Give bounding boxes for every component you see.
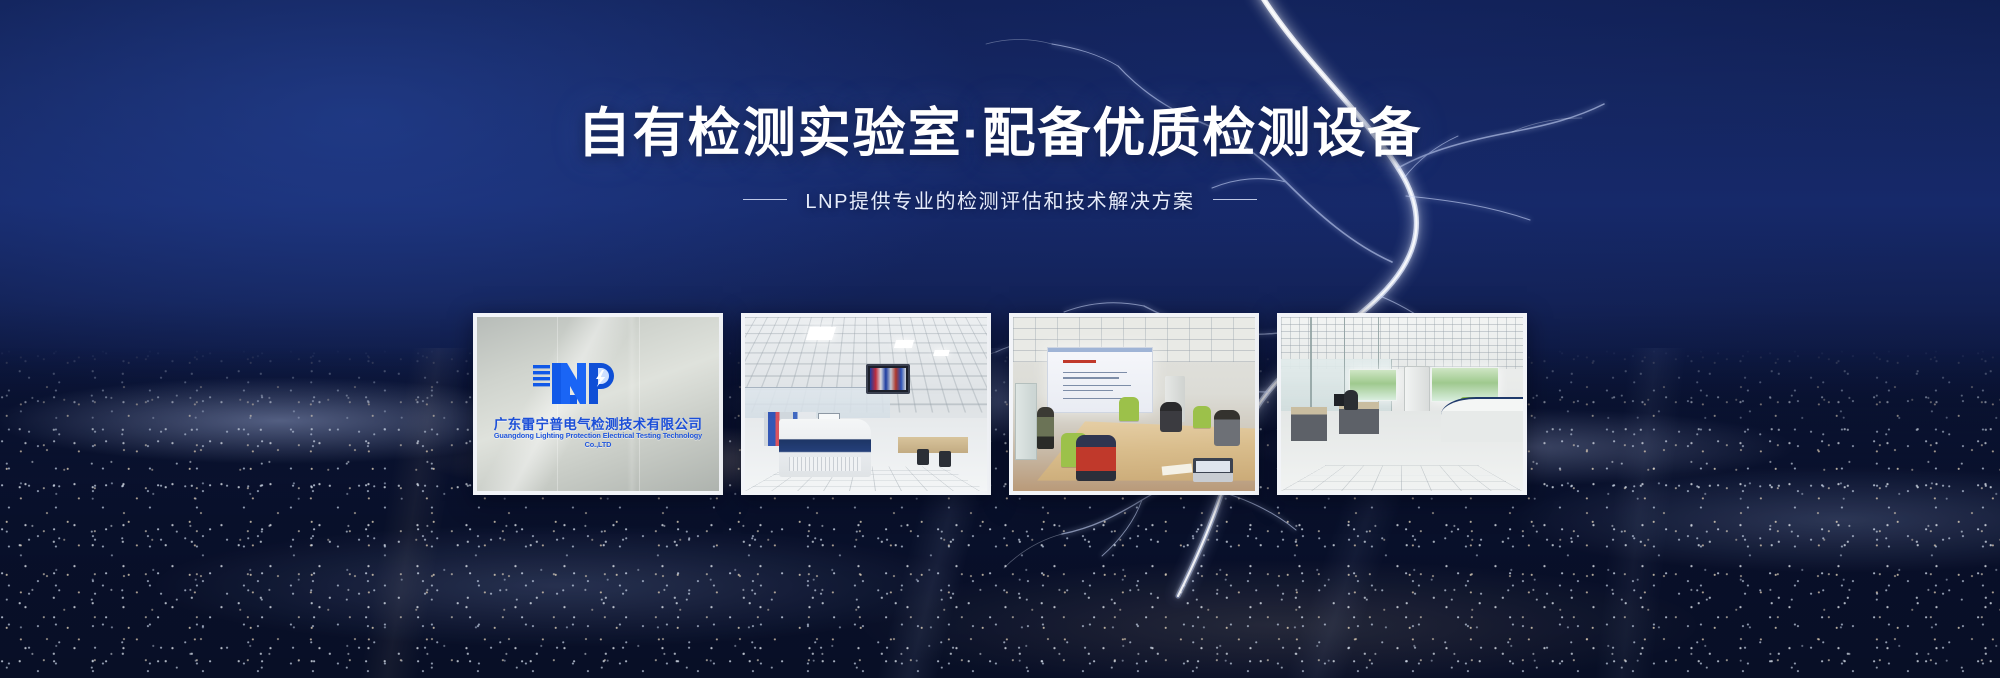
seated-person [1076, 435, 1116, 481]
gallery-strip: 广东雷宁普电气检测技术有限公司 Guangdong Lighting Prote… [473, 313, 1527, 495]
room-door [1015, 383, 1037, 460]
presenter-person [1037, 407, 1054, 449]
company-name-en: Guangdong Lighting Protection Electrical… [481, 431, 715, 449]
seated-person [1214, 410, 1240, 446]
company-name-cn: 广东雷宁普电气检测技术有限公司 [485, 413, 711, 433]
rule-right-icon [1213, 199, 1257, 200]
photo-lnp-signage[interactable]: 广东雷宁普电气检测技术有限公司 Guangdong Lighting Prote… [473, 313, 723, 495]
green-chair [1119, 397, 1139, 421]
hero-banner: 自有检测实验室·配备优质检测设备 LNP提供专业的检测评估和技术解决方案 [0, 0, 2000, 678]
photo-office[interactable] [1277, 313, 1527, 495]
control-console [779, 419, 871, 477]
hero-subtitle: LNP提供专业的检测评估和技术解决方案 [805, 185, 1194, 214]
seated-person [1160, 402, 1182, 432]
panel-seam [639, 317, 640, 491]
ceiling-light [806, 327, 836, 340]
hero-subtitle-row: LNP提供专业的检测评估和技术解决方案 [0, 185, 2000, 214]
lnp-logo-icon [531, 359, 617, 407]
desk [1291, 407, 1327, 441]
ceiling-light [933, 350, 949, 356]
photo-test-lab[interactable] [741, 313, 991, 495]
wall-monitor [866, 364, 910, 394]
chair [939, 451, 951, 467]
photo-meeting-room[interactable] [1009, 313, 1259, 495]
meeting-room-photo [1013, 317, 1255, 491]
laptop [1193, 458, 1233, 482]
rule-left-icon [743, 199, 787, 200]
signage-photo: 广东雷宁普电气检测技术有限公司 Guangdong Lighting Prote… [477, 317, 719, 491]
reception-counter [1441, 397, 1523, 442]
chair [917, 449, 929, 465]
office-photo [1281, 317, 1523, 491]
hero-copy: 自有检测实验室·配备优质检测设备 LNP提供专业的检测评估和技术解决方案 [0, 104, 2000, 214]
office-desk [898, 437, 968, 453]
ceiling-light [894, 340, 914, 348]
office-worker [1344, 390, 1358, 410]
hero-headline: 自有检测实验室·配备优质检测设备 [0, 104, 2000, 163]
green-chair [1193, 406, 1211, 428]
test-lab-photo [745, 317, 987, 491]
